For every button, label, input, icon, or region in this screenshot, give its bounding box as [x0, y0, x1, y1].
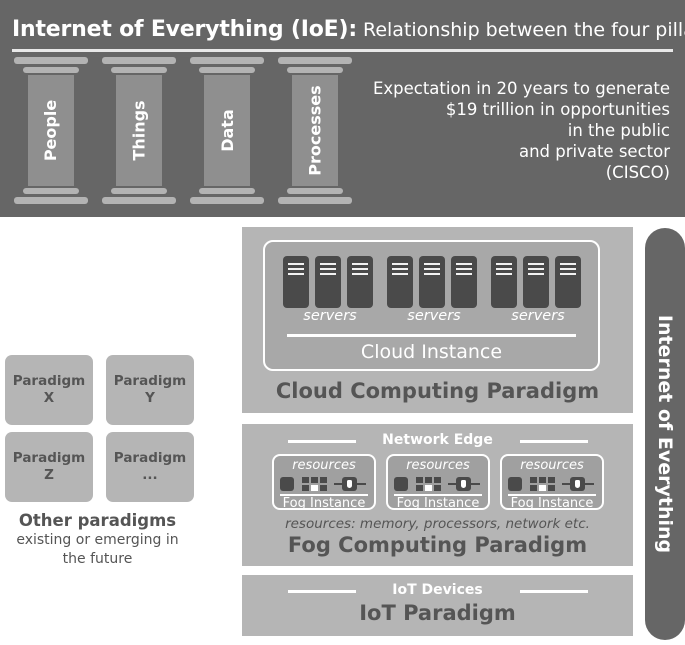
server-icon: [347, 256, 373, 308]
pillars-group: People Things Data Processes: [14, 57, 359, 205]
cloud-instance-divider: [287, 334, 576, 337]
server-icon: [491, 256, 517, 308]
network-icon: [334, 477, 366, 491]
pillar-label: People: [42, 100, 61, 161]
servers-caption: servers: [491, 308, 585, 324]
pillar-label-wrap: People: [28, 75, 74, 186]
processor-icon: [416, 477, 441, 491]
fog-resources-note: resources: memory, processors, network e…: [242, 516, 633, 532]
server-icon: [451, 256, 477, 308]
server-icon: [283, 256, 309, 308]
title-divider: [12, 49, 673, 52]
server-icon: [555, 256, 581, 308]
fog-panel-title: Fog Computing Paradigm: [242, 533, 633, 557]
fog-instance-label: Fog Instance: [274, 496, 374, 511]
server-icon: [419, 256, 445, 308]
cloud-panel-title: Cloud Computing Paradigm: [242, 379, 633, 403]
pillar-base-wide: [102, 197, 176, 204]
paradigm-box-line1: Paradigm: [13, 450, 85, 466]
page-title-bold: Internet of Everything (IoE):: [12, 17, 357, 42]
pillar-processes: Processes: [278, 57, 352, 205]
memory-icon: [280, 477, 294, 491]
pillar-cap-wide: [278, 57, 352, 64]
fog-resource-icons: [280, 476, 368, 492]
cisco-note-line: and private sector: [370, 141, 670, 162]
other-paradigms-subtitle-line2: the future: [0, 550, 195, 569]
pillar-label: Processes: [306, 85, 325, 175]
pillar-label-wrap: Things: [116, 75, 162, 186]
pillar-label: Things: [130, 100, 149, 160]
cloud-instance-label: Cloud Instance: [265, 341, 598, 363]
pillar-label-wrap: Data: [204, 75, 250, 186]
iot-devices-line-right: [520, 590, 588, 593]
processor-icon: [302, 477, 327, 491]
memory-icon: [508, 477, 522, 491]
fog-resources-label: resources: [274, 458, 374, 473]
server-row: [491, 256, 585, 308]
server-row: [283, 256, 377, 308]
server-group: servers: [491, 256, 585, 326]
network-edge-line-right: [520, 440, 588, 443]
paradigm-box-line1: Paradigm: [13, 373, 85, 389]
pillar-base-wide: [278, 197, 352, 204]
iot-panel: IoT Devices IoT Paradigm: [242, 575, 633, 636]
network-edge-bar: Network Edge: [242, 432, 633, 450]
fog-computing-panel: Network Edge resources Fog Instance reso…: [242, 424, 633, 566]
pillar-label-wrap: Processes: [292, 75, 338, 186]
server-icon: [523, 256, 549, 308]
server-group: servers: [283, 256, 377, 326]
paradigm-box-more[interactable]: Paradigm...: [106, 432, 194, 502]
iot-devices-bar: IoT Devices: [242, 582, 633, 600]
pillar-cap-narrow: [287, 67, 343, 73]
pillar-cap-wide: [14, 57, 88, 64]
servers-caption: servers: [387, 308, 481, 324]
pillar-cap-narrow: [23, 67, 79, 73]
cloud-computing-panel: servers servers servers Cloud Instance C…: [242, 227, 633, 413]
pillar-things: Things: [102, 57, 176, 205]
network-icon: [448, 477, 480, 491]
fog-instance-label: Fog Instance: [388, 496, 488, 511]
cisco-note-line: Expectation in 20 years to generate: [370, 78, 670, 99]
paradigm-box-line2: ...: [142, 467, 157, 483]
pillar-base-narrow: [287, 188, 343, 194]
internet-of-everything-bar: Internet of Everything: [645, 228, 685, 640]
processor-icon: [530, 477, 555, 491]
cisco-note-line: in the public: [370, 120, 670, 141]
memory-icon: [394, 477, 408, 491]
pillar-label: Data: [218, 109, 237, 152]
pillar-base-narrow: [111, 188, 167, 194]
fog-instance-box: resources Fog Instance: [500, 454, 604, 510]
network-icon: [562, 477, 594, 491]
servers-caption: servers: [283, 308, 377, 324]
server-group: servers: [387, 256, 481, 326]
fog-instance-box: resources Fog Instance: [386, 454, 490, 510]
cisco-note-line: $19 trillion in opportunities: [370, 99, 670, 120]
page-title: Internet of Everything (IoE): Relationsh…: [12, 17, 673, 47]
pillar-people: People: [14, 57, 88, 205]
pillar-data: Data: [190, 57, 264, 205]
other-paradigms-subtitle-line1: existing or emerging in: [0, 531, 195, 550]
pillar-cap-wide: [190, 57, 264, 64]
paradigm-box-x[interactable]: ParadigmX: [5, 355, 93, 425]
other-paradigms-title: Other paradigms: [0, 511, 195, 530]
paradigm-box-line1: Paradigm: [114, 450, 186, 466]
fog-resource-icons: [508, 476, 596, 492]
paradigm-box-y[interactable]: ParadigmY: [106, 355, 194, 425]
page-title-light: Relationship between the four pillars: [357, 19, 685, 41]
server-icon: [387, 256, 413, 308]
other-paradigms-subtitle: existing or emerging in the future: [0, 531, 195, 569]
internet-of-everything-label: Internet of Everything: [654, 315, 676, 553]
pillar-base-narrow: [199, 188, 255, 194]
fog-resources-label: resources: [388, 458, 488, 473]
header-banner: Internet of Everything (IoE): Relationsh…: [0, 0, 685, 217]
paradigm-box-line1: Paradigm: [114, 373, 186, 389]
cisco-note: Expectation in 20 years to generate $19 …: [370, 78, 670, 183]
paradigm-box-z[interactable]: ParadigmZ: [5, 432, 93, 502]
other-paradigms-group: ParadigmX ParadigmY ParadigmZ Paradigm..…: [3, 355, 195, 507]
iot-panel-title: IoT Paradigm: [242, 601, 633, 625]
paradigm-box-line2: X: [44, 390, 54, 406]
pillar-cap-narrow: [111, 67, 167, 73]
paradigm-box-line2: Y: [145, 390, 155, 406]
pillar-cap-wide: [102, 57, 176, 64]
cloud-instance-box: servers servers servers Cloud Instance: [263, 240, 600, 371]
cisco-note-line: (CISCO): [370, 162, 670, 183]
paradigm-box-line2: Z: [44, 467, 54, 483]
pillar-base-narrow: [23, 188, 79, 194]
fog-resources-label: resources: [502, 458, 602, 473]
fog-instance-label: Fog Instance: [502, 496, 602, 511]
fog-resource-icons: [394, 476, 482, 492]
fog-instance-box: resources Fog Instance: [272, 454, 376, 510]
pillar-cap-narrow: [199, 67, 255, 73]
server-row: [387, 256, 481, 308]
server-icon: [315, 256, 341, 308]
pillar-base-wide: [190, 197, 264, 204]
pillar-base-wide: [14, 197, 88, 204]
